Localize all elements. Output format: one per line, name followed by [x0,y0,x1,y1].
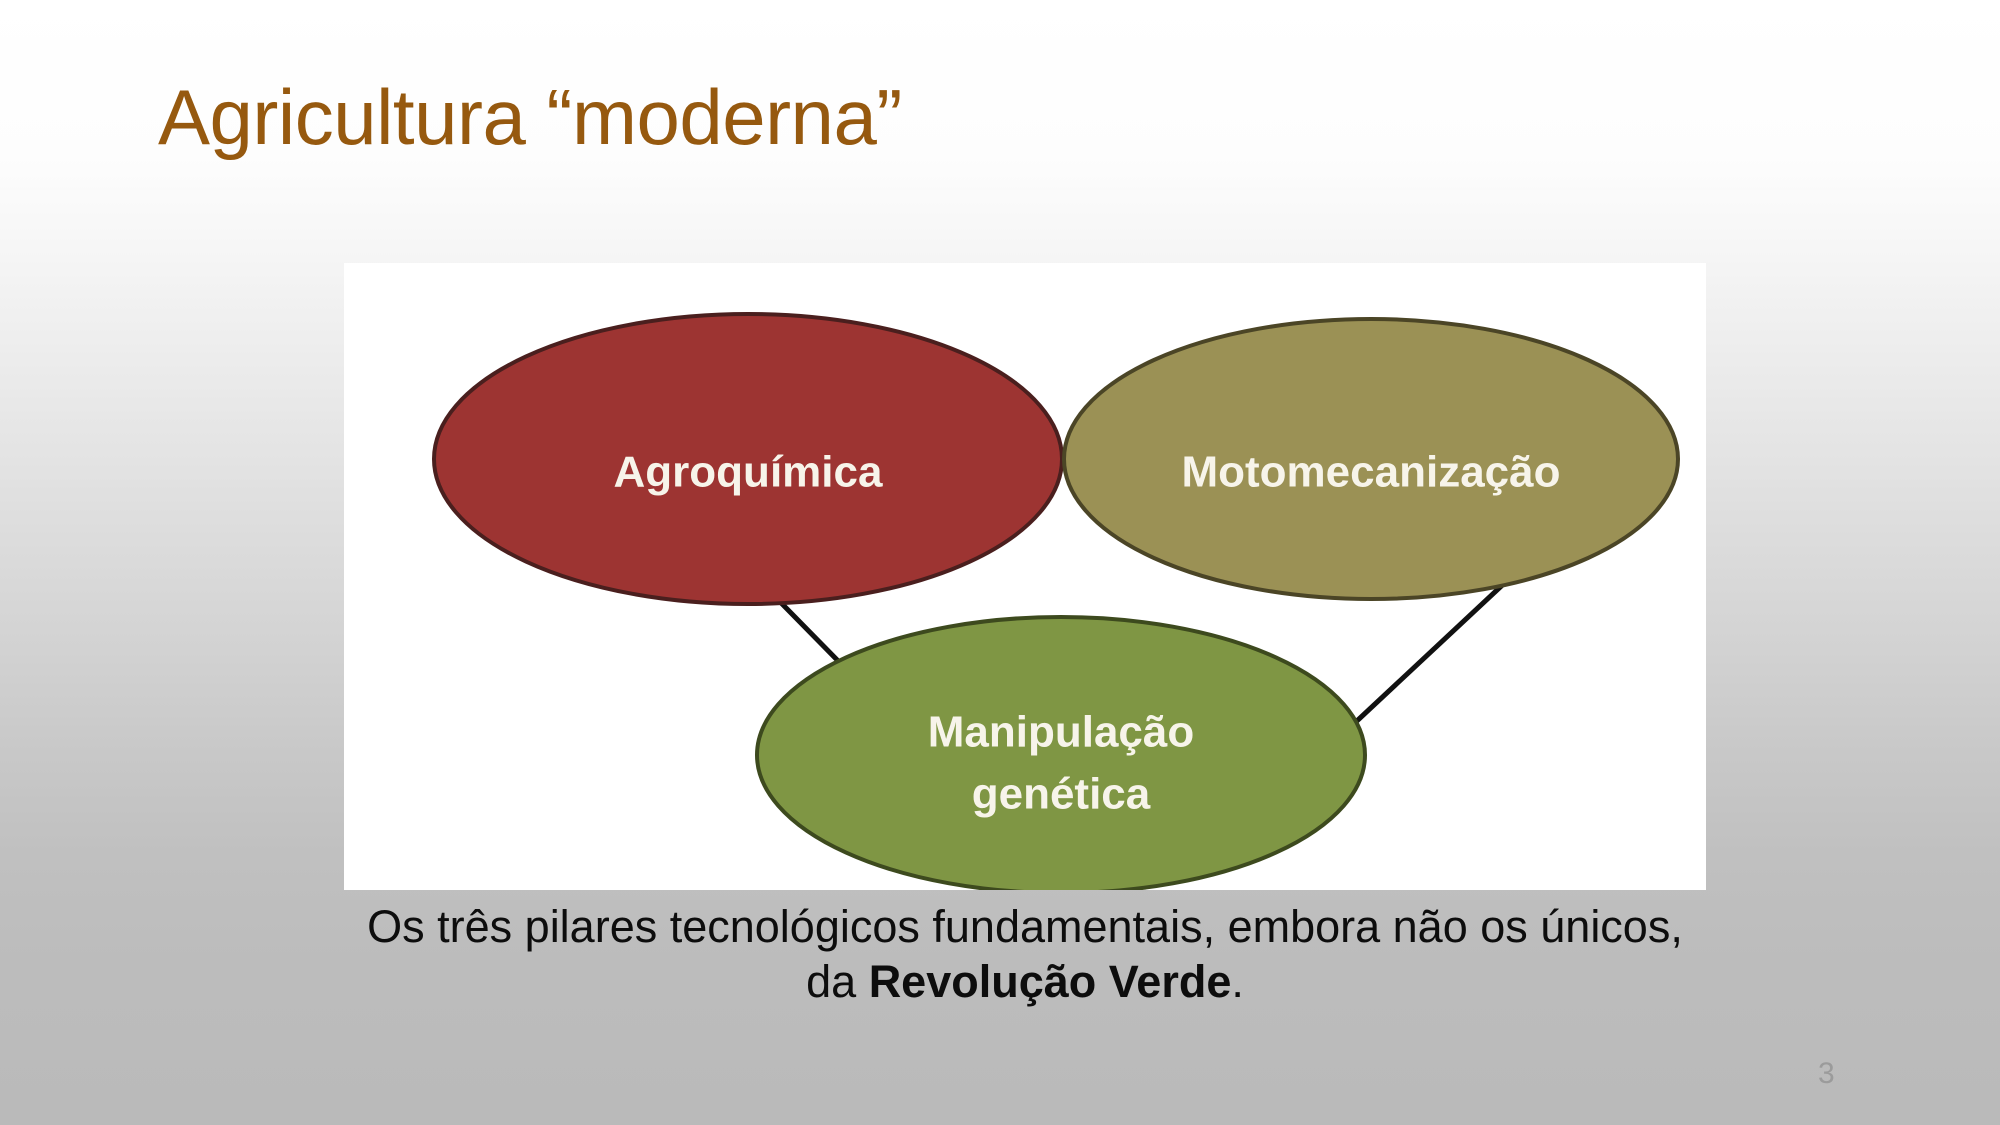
diagram-node-agroquimica[interactable]: Agroquímica [434,314,1062,604]
diagram-figure: Agroquímica Motomecanização Manipulação … [344,263,1706,890]
node-label-manipulacao-line2: genética [972,770,1151,819]
three-pillars-diagram: Agroquímica Motomecanização Manipulação … [344,263,1706,890]
figure-caption-emphasis: Revolução Verde [869,956,1232,1007]
figure-caption-line-2-suffix: . [1231,956,1244,1007]
figure-caption: Os três pilares tecnológicos fundamentai… [250,900,1800,1010]
figure-caption-line-2-prefix: da [806,956,869,1007]
diagram-node-manipulacao-genetica[interactable]: Manipulação genética [757,617,1365,890]
slide-number: 3 [1818,1057,1878,1091]
diagram-node-motomecanizacao[interactable]: Motomecanização [1064,319,1678,599]
slide-canvas: Agricultura “moderna” Agroquímica Motome… [0,0,2000,1125]
figure-caption-line-1: Os três pilares tecnológicos fundamentai… [250,900,1800,955]
node-label-motomecanizacao: Motomecanização [1182,448,1561,497]
node-label-manipulacao-line1: Manipulação [928,708,1195,757]
figure-caption-line-2: da Revolução Verde. [250,955,1800,1010]
page-title: Agricultura “moderna” [158,78,1858,158]
node-label-agroquimica: Agroquímica [614,448,883,497]
